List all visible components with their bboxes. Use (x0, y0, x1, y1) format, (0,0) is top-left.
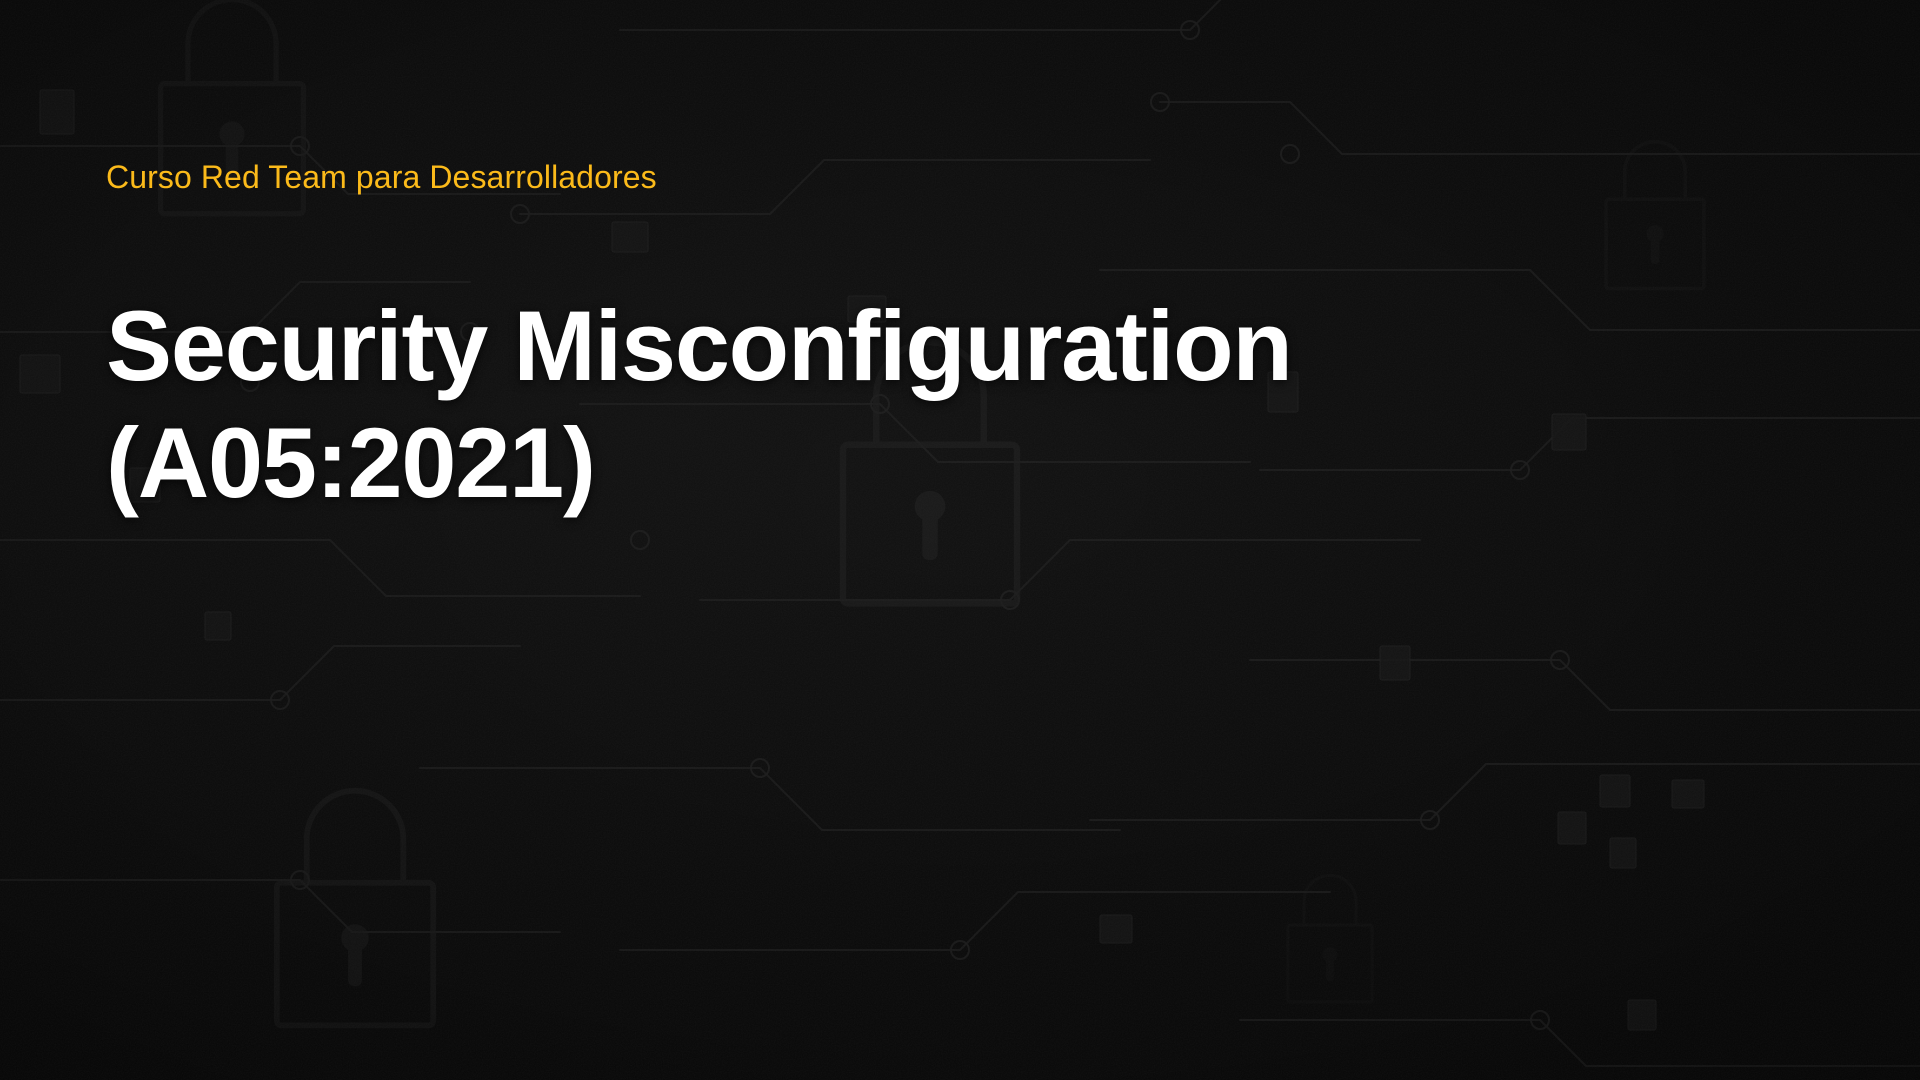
title-block: Curso Red Team para Desarrolladores Secu… (106, 0, 1666, 1080)
page-title: Security Misconfiguration (A05:2021) (106, 288, 1646, 522)
title-line-2: (A05:2021) (106, 407, 595, 518)
title-slide: Curso Red Team para Desarrolladores Secu… (0, 0, 1920, 1080)
course-label: Curso Red Team para Desarrolladores (106, 160, 657, 195)
title-line-1: Security Misconfiguration (106, 290, 1292, 401)
